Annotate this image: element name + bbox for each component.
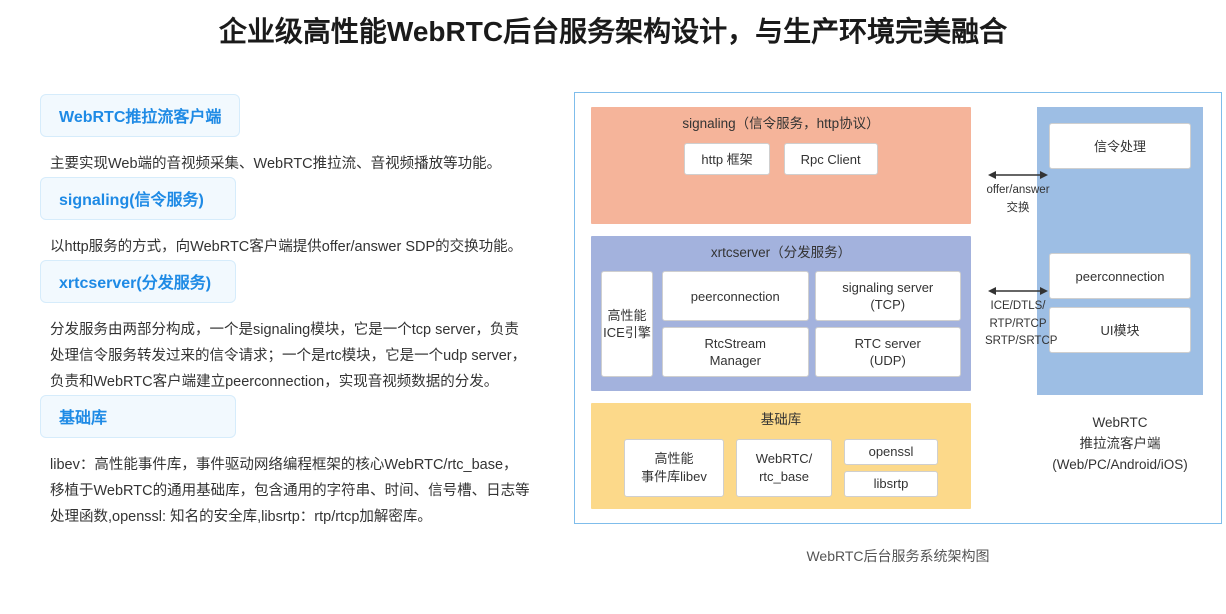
base-library-item-libev-line2: 事件库libev <box>641 469 707 484</box>
client-caption-line1: WebRTC <box>1037 413 1203 434</box>
xrtcserver-block: xrtcserver（分发服务） 高性能ICE引擎 peerconnection… <box>591 236 971 391</box>
section-body-signaling: 以http服务的方式，向WebRTC客户端提供offer/answer SDP的… <box>50 234 530 260</box>
section-heading-signaling[interactable]: signaling(信令服务) <box>40 177 236 220</box>
signaling-block-title: signaling（信令服务，http协议） <box>601 115 961 134</box>
xrtcserver-item-rtcstream-manager: RtcStream Manager <box>662 327 809 377</box>
section-base-library: 基础库 libev：高性能事件库，事件驱动网络编程框架的核心WebRTC/rtc… <box>40 395 560 530</box>
base-library-item-openssl: openssl <box>844 439 938 465</box>
base-library-item-rtc-base-line1: WebRTC/ <box>756 451 813 466</box>
server-side-stack: signaling（信令服务，http协议） http 框架 Rpc Clien… <box>591 107 971 509</box>
section-webrtc-client: WebRTC推拉流客户端 主要实现Web端的音视频采集、WebRTC推拉流、音视… <box>40 94 560 177</box>
client-item-peerconnection: peerconnection <box>1049 253 1191 299</box>
section-signaling: signaling(信令服务) 以http服务的方式，向WebRTC客户端提供o… <box>40 177 560 260</box>
connector-media-line3: SRTP/SRTCP <box>985 334 1051 350</box>
double-arrow-icon <box>987 169 1049 181</box>
client-panel: 信令处理 peerconnection UI模块 <box>1037 107 1203 395</box>
architecture-diagram-column: signaling（信令服务，http协议） http 框架 Rpc Clien… <box>560 56 1226 566</box>
xrtcserver-item-rtc-server-line1: RTC server <box>855 336 921 351</box>
xrtcserver-ice-engine: 高性能ICE引擎 <box>601 271 653 377</box>
page-title: 企业级高性能WebRTC后台服务架构设计，与生产环境完美融合 <box>0 0 1226 56</box>
section-heading-webrtc-client[interactable]: WebRTC推拉流客户端 <box>40 94 240 137</box>
client-item-ui-module: UI模块 <box>1049 307 1191 353</box>
section-body-xrtcserver: 分发服务由两部分构成，一个是signaling模块，它是一个tcp server… <box>50 317 530 395</box>
base-library-item-libsrtp: libsrtp <box>844 471 938 497</box>
xrtcserver-item-signaling-server-line1: signaling server <box>842 280 933 295</box>
content-wrapper: WebRTC推拉流客户端 主要实现Web端的音视频采集、WebRTC推拉流、音视… <box>0 56 1226 566</box>
client-panel-caption: WebRTC 推拉流客户端 (Web/PC/Android/iOS) <box>1037 413 1203 476</box>
connector-offer-answer-line2: 交换 <box>985 201 1051 217</box>
xrtcserver-item-signaling-server: signaling server (TCP) <box>815 271 962 321</box>
client-panel-spacer <box>1049 169 1191 253</box>
figure-caption: WebRTC后台服务系统架构图 <box>574 546 1222 566</box>
sidebar-descriptions: WebRTC推拉流客户端 主要实现Web端的音视频采集、WebRTC推拉流、音视… <box>40 56 560 530</box>
xrtcserver-item-rtcstream-manager-line1: RtcStream <box>705 336 766 351</box>
architecture-diagram: signaling（信令服务，http协议） http 框架 Rpc Clien… <box>574 92 1222 524</box>
xrtcserver-item-rtcstream-manager-line2: Manager <box>710 353 761 368</box>
signaling-block: signaling（信令服务，http协议） http 框架 Rpc Clien… <box>591 107 971 223</box>
connector-media-protocols: ICE/DTLS/ RTP/RTCP SRTP/SRTCP <box>985 285 1051 350</box>
xrtcserver-item-peerconnection: peerconnection <box>662 271 809 321</box>
client-caption-line3: (Web/PC/Android/iOS) <box>1037 455 1203 476</box>
client-panel-spacer-2 <box>1049 299 1191 307</box>
connector-media-line1: ICE/DTLS/ <box>985 299 1051 315</box>
section-xrtcserver: xrtcserver(分发服务) 分发服务由两部分构成，一个是signaling… <box>40 260 560 395</box>
xrtcserver-item-signaling-server-line2: (TCP) <box>870 297 905 312</box>
xrtcserver-item-rtc-server: RTC server (UDP) <box>815 327 962 377</box>
base-library-item-libev: 高性能 事件库libev <box>624 439 724 497</box>
xrtcserver-block-title: xrtcserver（分发服务） <box>601 244 961 263</box>
section-body-base-library: libev：高性能事件库，事件驱动网络编程框架的核心WebRTC/rtc_bas… <box>50 452 530 530</box>
base-library-block: 基础库 高性能 事件库libev WebRTC/ <box>591 403 971 509</box>
section-heading-base-library[interactable]: 基础库 <box>40 395 236 438</box>
connector-offer-answer-line1: offer/answer <box>985 183 1051 199</box>
connector-offer-answer: offer/answer 交换 <box>985 169 1051 216</box>
client-item-signal-handler: 信令处理 <box>1049 123 1191 169</box>
client-caption-line2: 推拉流客户端 <box>1037 434 1203 455</box>
connector-media-line2: RTP/RTCP <box>985 317 1051 333</box>
base-library-item-rtc-base-line2: rtc_base <box>759 469 809 484</box>
base-library-item-rtc-base: WebRTC/ rtc_base <box>736 439 832 497</box>
base-library-block-title: 基础库 <box>601 411 961 430</box>
signaling-item-http-framework: http 框架 <box>684 143 769 175</box>
xrtcserver-item-peerconnection-label: peerconnection <box>691 288 780 306</box>
xrtcserver-item-rtc-server-line2: (UDP) <box>870 353 906 368</box>
base-library-item-libev-line1: 高性能 <box>654 451 693 466</box>
section-heading-xrtcserver[interactable]: xrtcserver(分发服务) <box>40 260 236 303</box>
double-arrow-icon <box>987 285 1049 297</box>
section-body-webrtc-client: 主要实现Web端的音视频采集、WebRTC推拉流、音视频播放等功能。 <box>50 151 530 177</box>
signaling-item-rpc-client: Rpc Client <box>784 143 878 175</box>
client-side-stack: 信令处理 peerconnection UI模块 WebRTC 推拉流客户端 (… <box>1037 107 1203 509</box>
